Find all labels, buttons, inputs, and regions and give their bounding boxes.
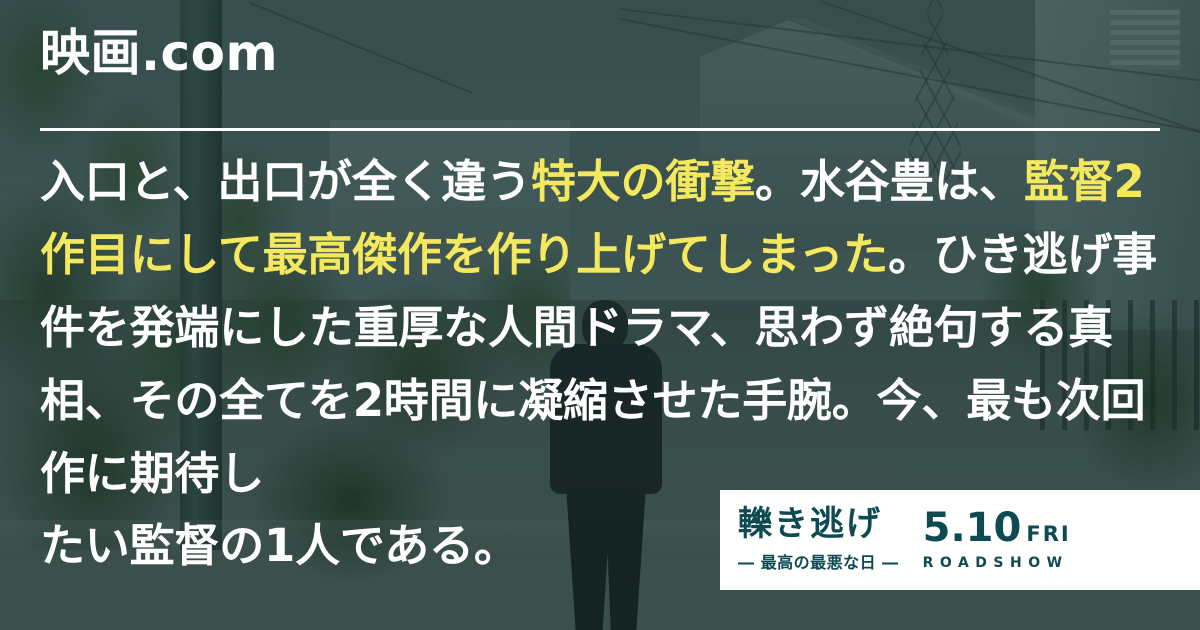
excerpt-segment-plain-2: 。水谷豊は、 (755, 155, 1024, 208)
release-weekday: FRI (1026, 522, 1070, 548)
movie-title: 轢き逃げ (738, 507, 899, 542)
header-divider (40, 128, 1160, 131)
card-content: 映画.com 入口と、出口が全く違う特大の衝撃。水谷豊は、監督2作目にして最高傑… (0, 0, 1200, 630)
site-title: 映画.com (40, 26, 278, 81)
movie-release-block: 5.10 FRI ROADSHOW (923, 509, 1071, 570)
release-roadshow-label: ROADSHOW (923, 555, 1071, 571)
release-date: 5.10 (923, 509, 1022, 547)
excerpt-tail-line: たい監督の1人である。 (40, 519, 519, 572)
movie-subtitle: ― 最高の最悪な日 ― (738, 549, 899, 573)
og-share-card: 映画.com 入口と、出口が全く違う特大の衝撃。水谷豊は、監督2作目にして最高傑… (0, 0, 1200, 630)
movie-title-block: 轢き逃げ ― 最高の最悪な日 ― (738, 507, 899, 572)
excerpt-segment-plain-1: 入口と、出口が全く違う (40, 155, 531, 208)
release-date-row: 5.10 FRI (923, 509, 1071, 547)
excerpt-segment-highlight-1: 特大の衝撃 (531, 155, 755, 208)
movie-logo-plate: 轢き逃げ ― 最高の最悪な日 ― 5.10 FRI ROADSHOW (720, 490, 1200, 590)
